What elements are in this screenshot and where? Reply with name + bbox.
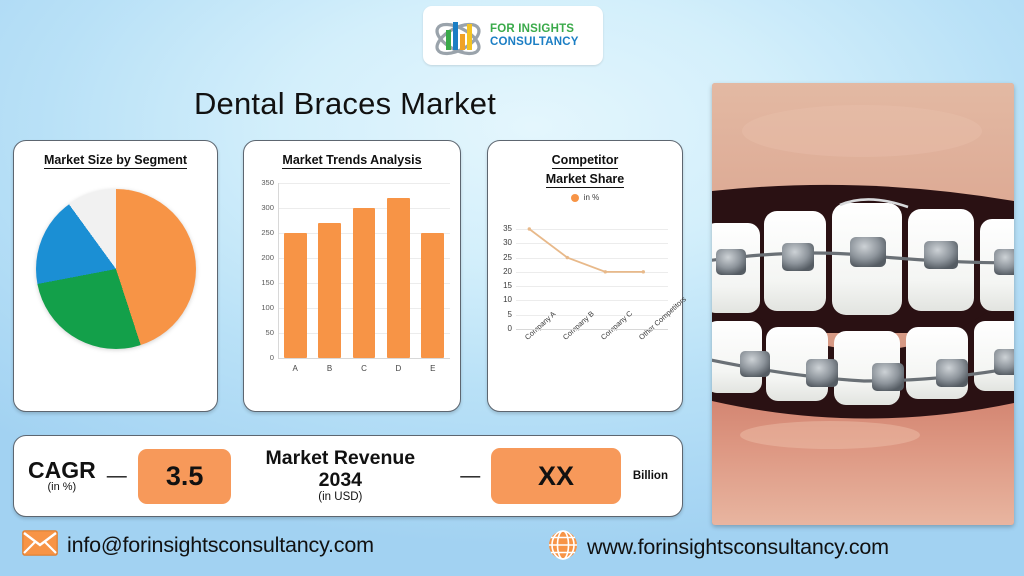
revenue-label-group: Market Revenue 2034 (in USD)	[241, 448, 439, 504]
footer-website[interactable]: www.forinsightsconsultancy.com	[548, 530, 889, 565]
bar-chart-globe-logo-icon	[433, 14, 483, 58]
bar-y-tick: 200	[248, 253, 274, 262]
line-chart-plot-area: in % 05101520253035Company ACompany BCom…	[488, 191, 682, 391]
bar-y-tick: 250	[248, 228, 274, 237]
revenue-label: Market Revenue 2034	[241, 448, 439, 491]
bar-y-tick: 100	[248, 303, 274, 312]
cagr-unit: (in %)	[28, 482, 96, 494]
cagr-label-group: CAGR (in %)	[28, 458, 96, 494]
brand-logo-line2: CONSULTANCY	[490, 36, 579, 48]
bar-y-tick: 150	[248, 278, 274, 287]
footer-website-text: www.forinsightsconsultancy.com	[587, 535, 889, 560]
dash-separator-2: —	[460, 465, 480, 488]
bar-x-tick: D	[387, 364, 409, 373]
footer-email-text: info@forinsightsconsultancy.com	[67, 533, 374, 558]
revenue-unit: (in USD)	[241, 491, 439, 504]
bar-column	[387, 198, 410, 358]
line-chart-title: Competitor Market Share	[488, 153, 682, 188]
kpi-banner: CAGR (in %) — 3.5 Market Revenue 2034 (i…	[13, 435, 683, 517]
brand-logo-line1: FOR INSIGHTS	[490, 23, 579, 35]
bar-y-tick: 50	[248, 328, 274, 337]
bar-column	[353, 208, 376, 358]
braces-photo	[712, 83, 1014, 525]
bar-y-axis	[278, 183, 279, 358]
line-chart-title-line1: Competitor	[552, 153, 619, 169]
bar-x-tick: B	[319, 364, 341, 373]
bar-gridline	[278, 183, 450, 184]
card-market-trends-analysis: Market Trends Analysis 05010015020025030…	[243, 140, 461, 412]
cagr-label: CAGR	[28, 458, 96, 482]
pie-slices	[36, 189, 196, 349]
page-title: Dental Braces Market	[0, 86, 690, 122]
bar-column	[421, 233, 444, 358]
envelope-icon	[22, 530, 58, 561]
bar-y-tick: 300	[248, 203, 274, 212]
bar-x-tick: C	[353, 364, 375, 373]
braces-photo-illustration	[712, 83, 1014, 525]
revenue-value-pill: XX	[491, 448, 621, 504]
bar-chart-title-text: Market Trends Analysis	[282, 153, 421, 169]
brand-logo-text: FOR INSIGHTS CONSULTANCY	[490, 23, 579, 47]
footer-email[interactable]: info@forinsightsconsultancy.com	[22, 530, 374, 561]
bar-y-tick: 0	[248, 353, 274, 362]
card-market-size-by-segment: Market Size by Segment	[13, 140, 218, 412]
dash-separator-1: —	[107, 465, 127, 488]
brand-logo: FOR INSIGHTS CONSULTANCY	[423, 6, 603, 65]
card-competitor-market-share: Competitor Market Share in % 05101520253…	[487, 140, 683, 412]
cagr-value-pill: 3.5	[138, 449, 232, 504]
bar-column	[284, 233, 307, 358]
bar-y-tick: 350	[248, 178, 274, 187]
bar-x-tick: A	[284, 364, 306, 373]
revenue-suffix: Billion	[633, 470, 668, 482]
line-series	[488, 191, 682, 391]
bar-column	[318, 223, 341, 358]
bar-chart-plot-area: 050100150200250300350ABCDE	[244, 169, 460, 394]
pie-chart-title-text: Market Size by Segment	[44, 153, 187, 169]
bar-x-axis	[278, 358, 450, 359]
line-chart-title-line2: Market Share	[546, 172, 625, 188]
bar-x-tick: E	[422, 364, 444, 373]
globe-icon	[548, 530, 578, 565]
pie-chart-title: Market Size by Segment	[14, 153, 217, 169]
line-x-axis	[516, 329, 668, 330]
pie-chart	[14, 169, 217, 369]
bar-chart-title: Market Trends Analysis	[244, 153, 460, 169]
